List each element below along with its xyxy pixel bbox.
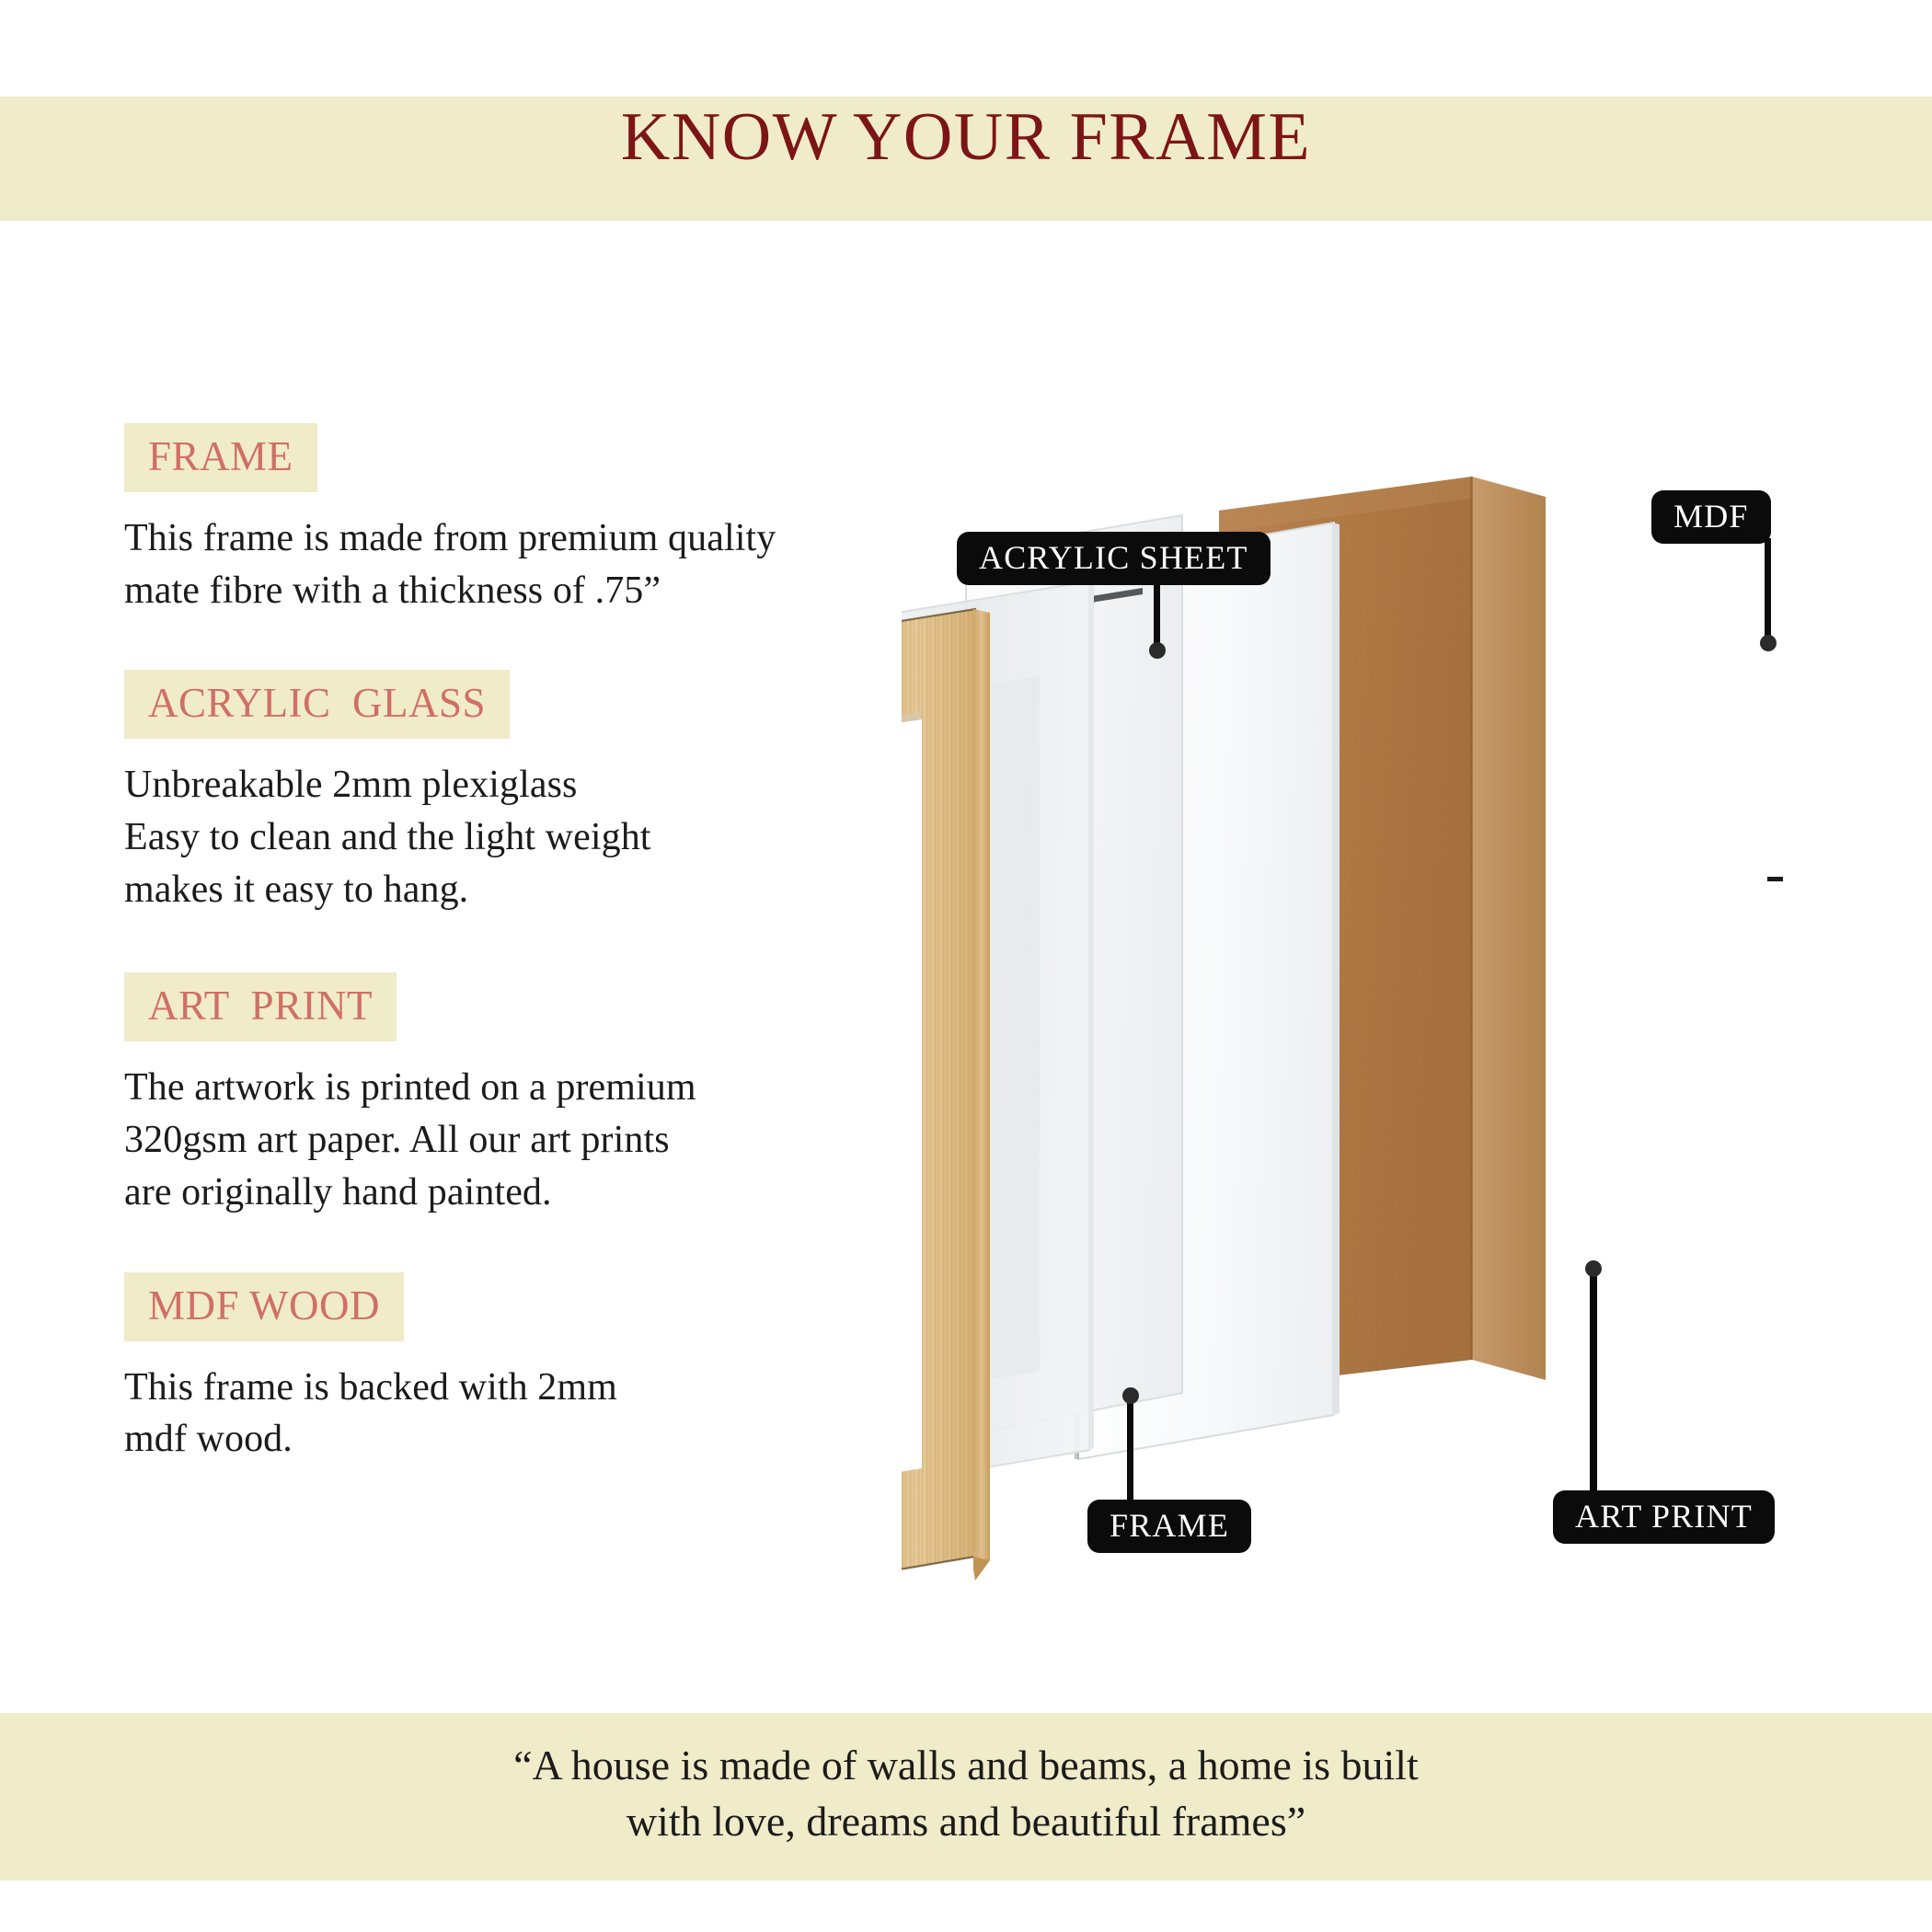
info-block-frame: FRAME This frame is made from premium qu… xyxy=(124,423,888,616)
leader-dot-acrylic-sheet xyxy=(1149,642,1166,659)
section-heading-mdf-wood: MDF WOOD xyxy=(124,1272,404,1341)
info-block-art-print: ART PRINT The artwork is printed on a pr… xyxy=(124,972,888,1218)
page-title: KNOW YOUR FRAME xyxy=(0,103,1932,171)
section-heading-frame: FRAME xyxy=(124,423,317,492)
footer-quote: “A house is made of walls and beams, a h… xyxy=(0,1737,1932,1849)
leader-line-acrylic-sheet xyxy=(1154,580,1160,650)
mdf-edge-tick-mark xyxy=(1767,877,1783,881)
exploded-frame-diagram xyxy=(902,460,1904,1610)
callout-mdf: MDF xyxy=(1651,490,1771,544)
section-body-frame: This frame is made from premium quality … xyxy=(124,512,888,616)
section-body-mdf-wood: This frame is backed with 2mm mdf wood. xyxy=(124,1362,888,1466)
section-body-art-print: The artwork is printed on a premium 320g… xyxy=(124,1062,888,1218)
leader-dot-mdf xyxy=(1760,635,1777,651)
leader-dot-art-print xyxy=(1585,1260,1602,1277)
section-body-acrylic-glass: Unbreakable 2mm plexiglass Easy to clean… xyxy=(124,759,888,915)
callout-frame: FRAME xyxy=(1087,1500,1251,1553)
info-block-mdf-wood: MDF WOOD This frame is backed with 2mm m… xyxy=(124,1272,888,1466)
leader-line-frame xyxy=(1127,1393,1133,1505)
leader-line-art-print xyxy=(1590,1266,1597,1496)
section-heading-art-print: ART PRINT xyxy=(124,972,397,1041)
diagram-layer-wood-frame xyxy=(902,609,990,1601)
info-block-acrylic-glass: ACRYLIC GLASS Unbreakable 2mm plexiglass… xyxy=(124,670,888,915)
callout-art-print: ART PRINT xyxy=(1553,1490,1775,1544)
leader-dot-frame xyxy=(1122,1387,1139,1404)
section-heading-acrylic-glass: ACRYLIC GLASS xyxy=(124,670,510,739)
callout-acrylic-sheet: ACRYLIC SHEET xyxy=(957,532,1271,585)
info-column: FRAME This frame is made from premium qu… xyxy=(124,423,888,1466)
leader-line-mdf xyxy=(1765,538,1771,641)
